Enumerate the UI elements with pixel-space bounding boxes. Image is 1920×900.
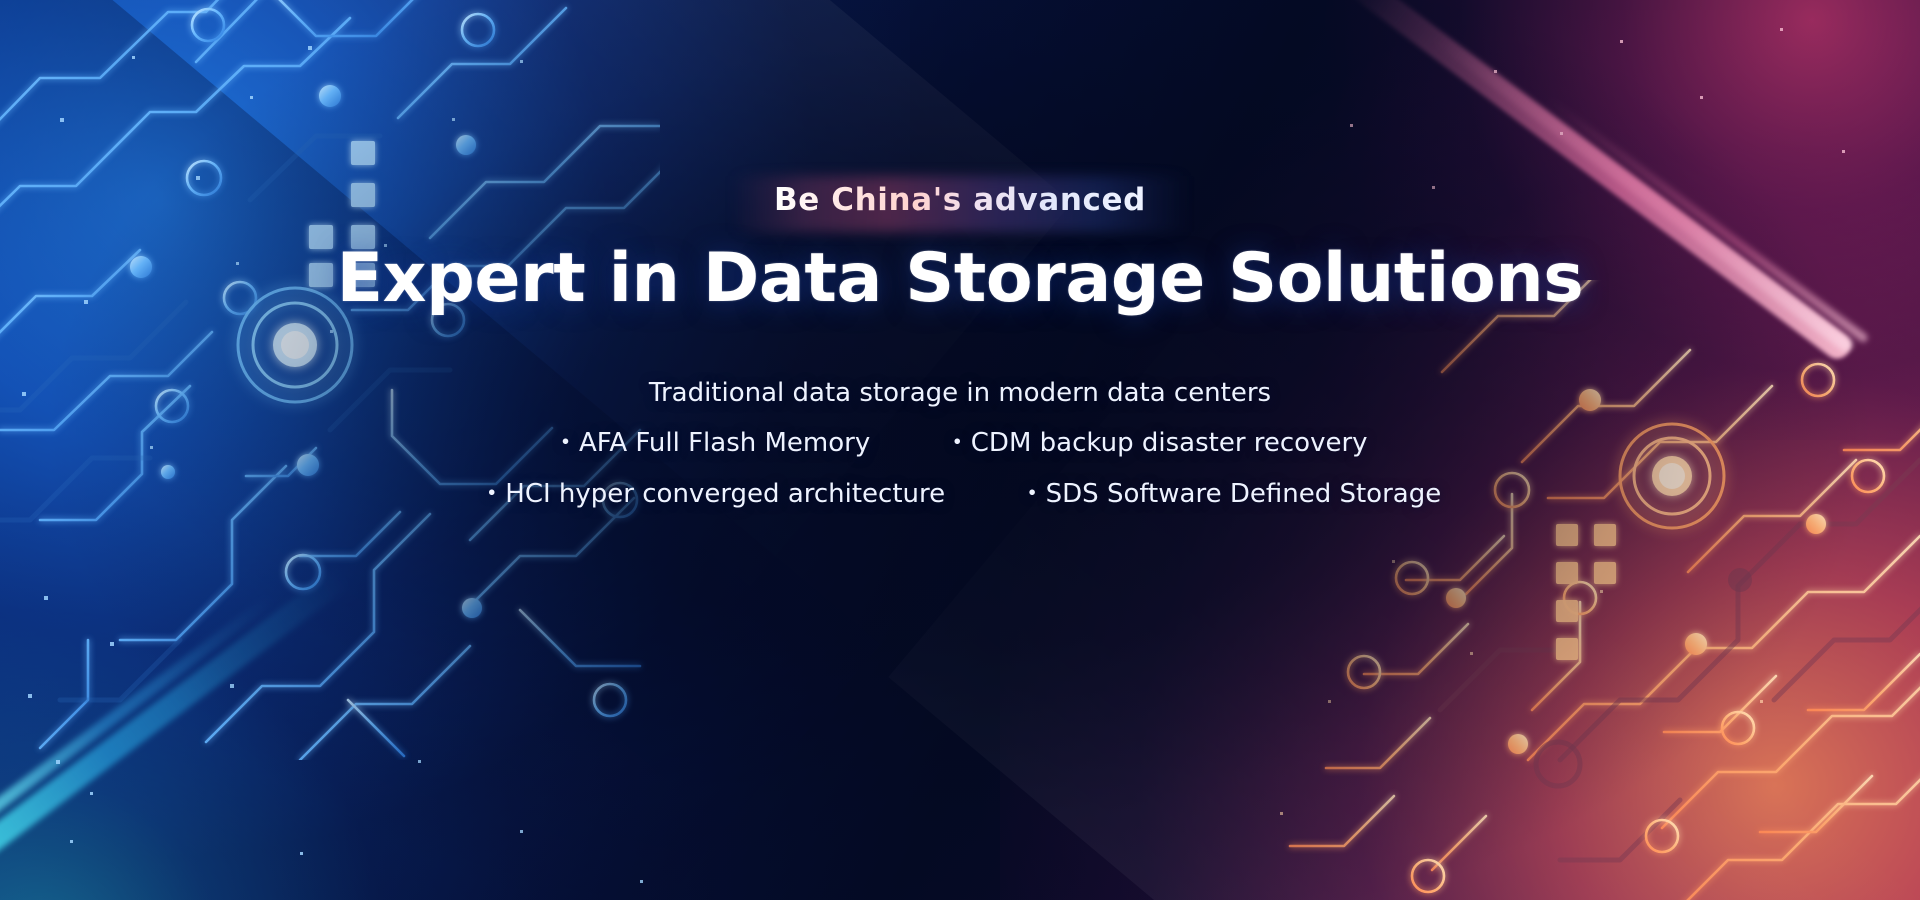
bullet-icon: ・ — [944, 428, 971, 458]
hero-banner: Be China's advanced Expert in Data Stora… — [0, 0, 1920, 900]
hero-subtitle: Traditional data storage in modern data … — [649, 378, 1271, 408]
feature-label-hci: HCI hyper converged architecture — [505, 479, 945, 509]
feature-item-afa: ・AFA Full Flash Memory — [552, 428, 870, 458]
feature-row-2: ・HCI hyper converged architecture ・SDS S… — [479, 479, 1441, 509]
hero-title: Expert in Data Storage Solutions — [337, 244, 1584, 315]
feature-label-afa: AFA Full Flash Memory — [579, 428, 870, 458]
hero-eyebrow: Be China's advanced — [774, 182, 1146, 218]
feature-item-hci: ・HCI hyper converged architecture — [479, 479, 945, 509]
feature-row-1: ・AFA Full Flash Memory ・CDM backup disas… — [552, 428, 1367, 458]
feature-label-cdm: CDM backup disaster recovery — [971, 428, 1368, 458]
feature-item-cdm: ・CDM backup disaster recovery — [944, 428, 1367, 458]
feature-item-sds: ・SDS Software Defined Storage — [1019, 479, 1441, 509]
bullet-icon: ・ — [1019, 479, 1046, 509]
feature-label-sds: SDS Software Defined Storage — [1046, 479, 1442, 509]
bullet-icon: ・ — [479, 479, 506, 509]
hero-copy-block: Be China's advanced Expert in Data Stora… — [0, 176, 1920, 509]
bullet-icon: ・ — [552, 428, 579, 458]
eyebrow-highlight-band: Be China's advanced — [732, 176, 1188, 232]
